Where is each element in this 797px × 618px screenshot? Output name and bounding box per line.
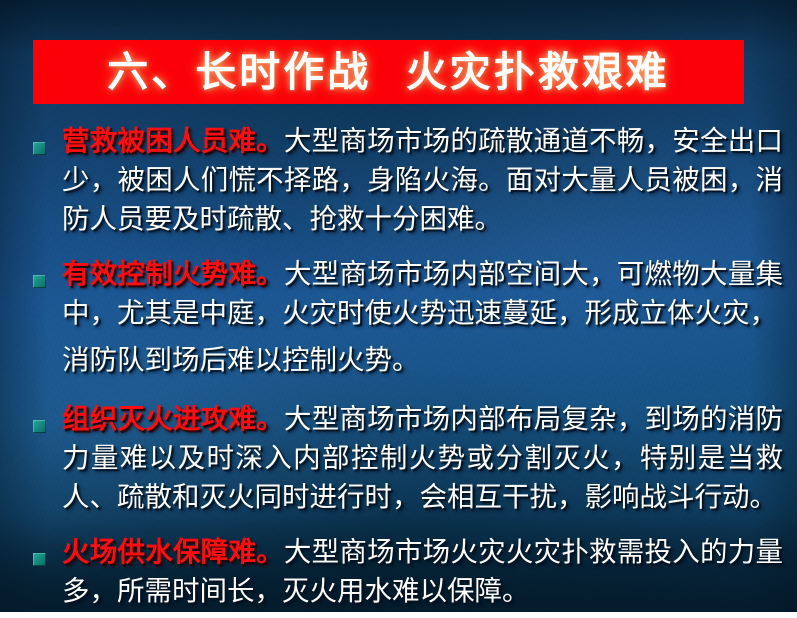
bullet-square-icon <box>33 420 46 433</box>
bullet-paragraph: 火场供水保障难。大型商场市场火灾火灾扑救需投入的力量多，所需时间长，灭火用水难以… <box>62 533 783 611</box>
title-banner: 六、长时作战 火灾扑救艰难 <box>33 40 744 104</box>
list-item: 火场供水保障难。大型商场市场火灾火灾扑救需投入的力量多，所需时间长，灭火用水难以… <box>0 533 797 611</box>
slide-title: 六、长时作战 火灾扑救艰难 <box>107 52 670 93</box>
bullet-square-icon <box>33 275 46 288</box>
list-item: 有效控制火势难。大型商场市场内部空间大，可燃物大量集中，尤其是中庭，火灾时使火势… <box>0 255 797 380</box>
bullet-paragraph: 有效控制火势难。大型商场市场内部空间大，可燃物大量集中，尤其是中庭，火灾时使火势… <box>62 255 783 333</box>
list-item: 组织灭火进攻难。大型商场市场内部布局复杂，到场的消防力量难以及时深入内部控制火势… <box>0 400 797 517</box>
spacer <box>0 384 797 400</box>
slide-bottom-edge <box>0 612 797 618</box>
bullet-tail-line: 消防队到场后难以控制火势。 <box>62 341 783 380</box>
bullet-square-icon <box>33 142 46 155</box>
slide-body: 营救被困人员难。大型商场市场的疏散通道不畅，安全出口少，被困人们慌不择路，身陷火… <box>0 122 797 612</box>
spacer <box>0 243 797 255</box>
bullet-paragraph: 组织灭火进攻难。大型商场市场内部布局复杂，到场的消防力量难以及时深入内部控制火势… <box>62 400 783 517</box>
spacer <box>0 521 797 533</box>
bullet-lead-text: 火场供水保障难。 <box>62 536 284 568</box>
bullet-paragraph: 营救被困人员难。大型商场市场的疏散通道不畅，安全出口少，被困人们慌不择路，身陷火… <box>62 122 783 239</box>
presentation-slide: 六、长时作战 火灾扑救艰难 营救被困人员难。大型商场市场的疏散通道不畅，安全出口… <box>0 0 797 612</box>
bullet-lead-text: 营救被困人员难。 <box>62 125 284 157</box>
bullet-lead-text: 有效控制火势难。 <box>62 258 284 290</box>
list-item: 营救被困人员难。大型商场市场的疏散通道不畅，安全出口少，被困人们慌不择路，身陷火… <box>0 122 797 239</box>
bullet-lead-text: 组织灭火进攻难。 <box>62 403 284 435</box>
bullet-square-icon <box>33 553 46 566</box>
